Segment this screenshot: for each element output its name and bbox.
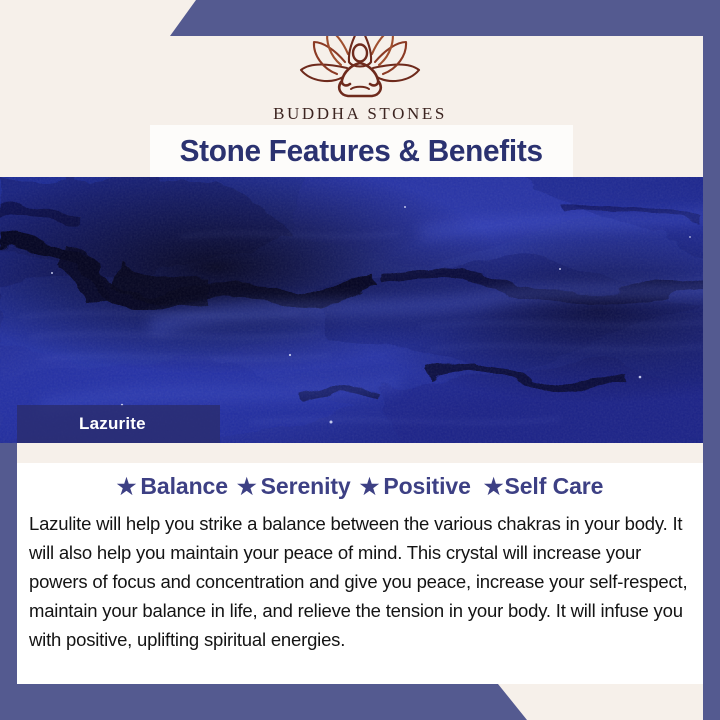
star-icon: ★ (237, 476, 257, 498)
benefit-label: Serenity (261, 473, 351, 500)
stone-photo-image (0, 177, 720, 443)
star-icon: ★ (117, 476, 137, 498)
star-icon: ★ (484, 476, 504, 498)
brand-logo: BUDDHA STONES (0, 22, 720, 124)
benefit-item-balance: ★ Balance (117, 473, 228, 500)
stone-description: Lazulite will help you strike a balance … (29, 509, 697, 654)
benefit-item-self-care: ★ Self Care (484, 473, 604, 500)
star-icon: ★ (360, 476, 380, 498)
frame-right-accent (703, 0, 720, 720)
poster-card: BUDDHA STONES (0, 0, 720, 720)
stone-name-text: Lazurite (17, 414, 146, 434)
stone-name-badge: Lazurite (17, 405, 220, 443)
brand-name: BUDDHA STONES (273, 104, 447, 124)
benefit-item-positive: ★ Positive (360, 473, 471, 500)
benefits-list: ★ Balance ★ Serenity ★ Positive ★ Self C… (17, 473, 703, 500)
panel-top-strip (17, 443, 703, 463)
page-title-text: Stone Features & Benefits (180, 133, 543, 169)
page-title: Stone Features & Benefits (150, 125, 573, 177)
benefit-label: Balance (140, 473, 228, 500)
details-panel: ★ Balance ★ Serenity ★ Positive ★ Self C… (17, 443, 703, 684)
benefit-label: Self Care (505, 473, 604, 500)
stone-photo (0, 177, 720, 443)
benefit-label: Positive (383, 473, 470, 500)
frame-left-accent (0, 443, 17, 720)
benefit-item-serenity: ★ Serenity (237, 473, 351, 500)
